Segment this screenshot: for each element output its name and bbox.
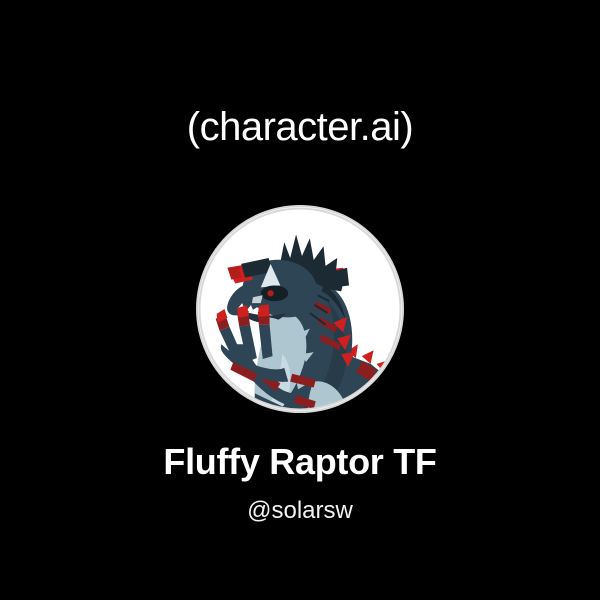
avatar-circle-frame — [196, 205, 404, 413]
brand-title: (character.ai) — [0, 100, 600, 154]
character-card: (character.ai) — [0, 0, 600, 600]
character-name: Fluffy Raptor TF — [0, 440, 600, 484]
raptor-dragon-icon — [198, 207, 402, 411]
creator-handle[interactable]: @solarsw — [0, 496, 600, 526]
avatar[interactable] — [196, 205, 404, 413]
